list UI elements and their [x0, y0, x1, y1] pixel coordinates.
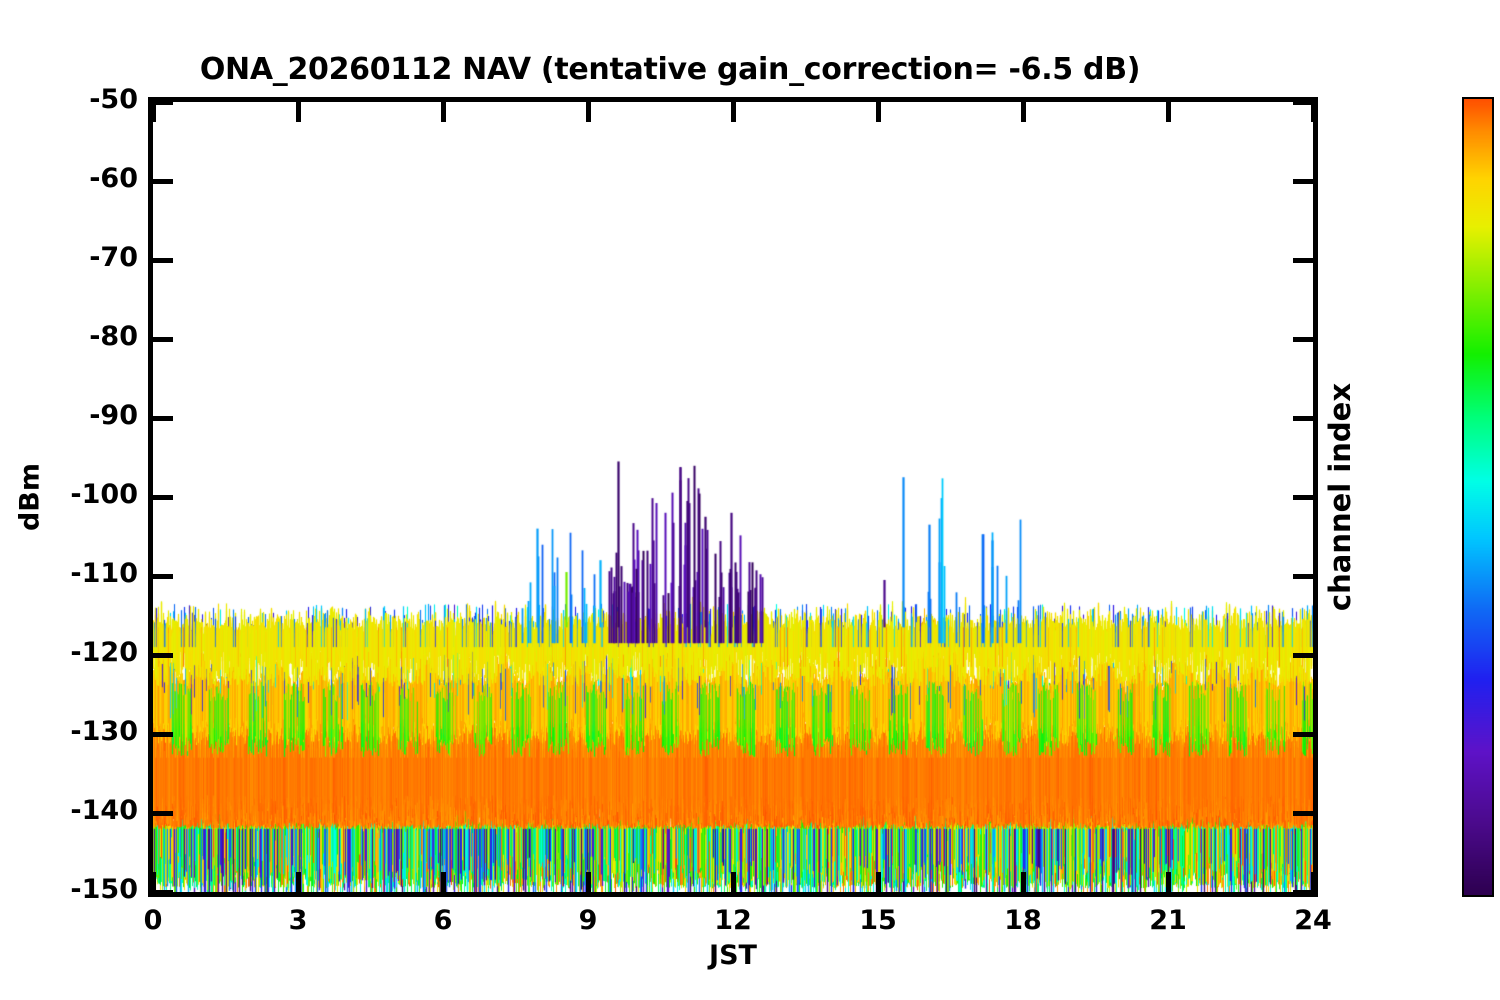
x-tick-0	[151, 872, 156, 892]
x-tick-top-4	[731, 102, 736, 122]
y-tick-label-10: -150	[70, 874, 138, 905]
x-tick-top-6	[1021, 102, 1026, 122]
y-tick-right-4	[1293, 416, 1313, 421]
page-title: ONA_20260112 NAV (tentative gain_correct…	[0, 52, 1340, 87]
colorbar-gradient	[1464, 99, 1492, 895]
y-axis-label: dBm	[15, 463, 46, 531]
y-tick-2	[153, 258, 173, 263]
x-tick-top-0	[151, 102, 156, 122]
x-tick-5	[876, 872, 881, 892]
y-tick-right-9	[1293, 811, 1313, 816]
x-tick-top-3	[586, 102, 591, 122]
y-tick-right-2	[1293, 258, 1313, 263]
x-tick-label-5: 15	[859, 905, 897, 936]
y-tick-label-0: -50	[89, 84, 138, 115]
x-tick-label-6: 18	[1004, 905, 1042, 936]
x-tick-4	[731, 872, 736, 892]
x-tick-label-0: 0	[144, 905, 163, 936]
y-tick-right-7	[1293, 653, 1313, 658]
y-tick-label-2: -70	[89, 242, 138, 273]
x-tick-1	[296, 872, 301, 892]
x-tick-top-7	[1166, 102, 1171, 122]
x-tick-top-8	[1311, 102, 1316, 122]
y-tick-9	[153, 811, 173, 816]
y-tick-1	[153, 179, 173, 184]
y-tick-label-1: -60	[89, 163, 138, 194]
y-tick-label-3: -80	[89, 321, 138, 352]
colorbar	[1462, 97, 1494, 897]
y-tick-5	[153, 495, 173, 500]
x-tick-label-4: 12	[714, 905, 752, 936]
x-tick-label-1: 3	[289, 905, 308, 936]
x-tick-label-8: 24	[1294, 905, 1332, 936]
x-tick-2	[441, 872, 446, 892]
x-tick-label-7: 21	[1149, 905, 1187, 936]
x-tick-label-2: 6	[434, 905, 453, 936]
x-tick-top-5	[876, 102, 881, 122]
y-tick-right-6	[1293, 574, 1313, 579]
spectrum-figure: ONA_20260112 NAV (tentative gain_correct…	[0, 0, 1500, 1000]
y-tick-right-1	[1293, 179, 1313, 184]
y-tick-8	[153, 732, 173, 737]
y-tick-label-4: -90	[89, 400, 138, 431]
colorbar-label: channel index	[1323, 383, 1357, 611]
y-tick-label-8: -130	[70, 716, 138, 747]
spectrum-plot-canvas	[153, 102, 1313, 892]
y-tick-label-7: -120	[70, 637, 138, 668]
y-tick-0	[153, 100, 173, 105]
y-tick-4	[153, 416, 173, 421]
x-tick-6	[1021, 872, 1026, 892]
x-tick-label-3: 9	[579, 905, 598, 936]
x-tick-8	[1311, 872, 1316, 892]
y-tick-6	[153, 574, 173, 579]
x-tick-3	[586, 872, 591, 892]
x-axis-label: JST	[709, 940, 757, 971]
x-tick-top-2	[441, 102, 446, 122]
y-tick-7	[153, 653, 173, 658]
y-tick-10	[153, 890, 173, 895]
y-tick-right-5	[1293, 495, 1313, 500]
x-tick-7	[1166, 872, 1171, 892]
y-tick-label-6: -110	[70, 558, 138, 589]
y-tick-right-8	[1293, 732, 1313, 737]
x-tick-top-1	[296, 102, 301, 122]
y-tick-label-5: -100	[70, 479, 138, 510]
y-tick-right-3	[1293, 337, 1313, 342]
y-tick-3	[153, 337, 173, 342]
plot-axes	[148, 97, 1318, 897]
y-tick-label-9: -140	[70, 795, 138, 826]
